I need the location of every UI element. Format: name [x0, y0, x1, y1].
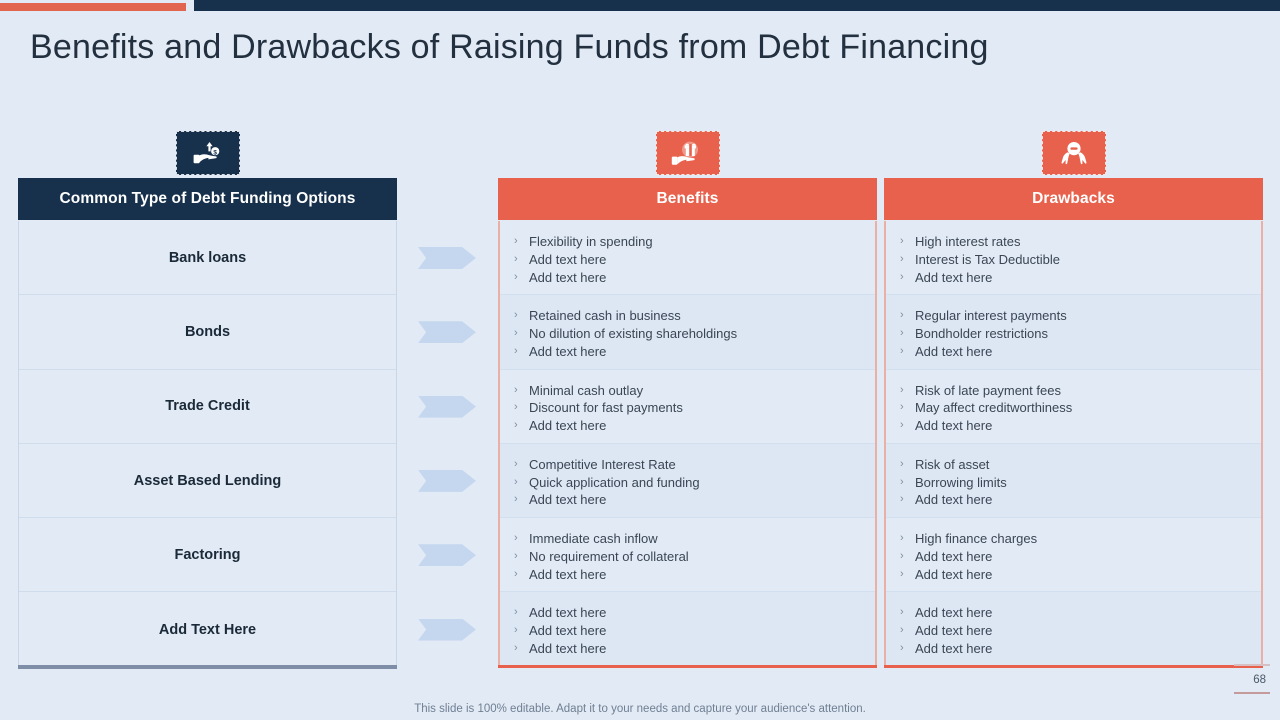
option-row: Trade Credit: [19, 370, 396, 444]
benefits-panel-bottom-rule: [498, 665, 877, 668]
drawback-bullet-text: Add text here: [915, 269, 992, 287]
page-number: 68: [1253, 674, 1266, 686]
drawback-bullet-text: High finance charges: [915, 530, 1037, 548]
row-connector-arrow-icon: [418, 544, 476, 566]
benefit-bullet: ›Add text here: [514, 343, 875, 361]
row-connector-arrow-icon: [418, 470, 476, 492]
bullet-chevron-icon: ›: [900, 622, 915, 640]
benefit-bullet: ›Add text here: [514, 269, 875, 287]
bullet-chevron-icon: ›: [514, 456, 529, 474]
drawback-bullet-text: Add text here: [915, 417, 992, 435]
bullet-chevron-icon: ›: [514, 530, 529, 548]
slide-canvas: Benefits and Drawbacks of Raising Funds …: [0, 0, 1280, 720]
top-accent-red-segment: [0, 3, 186, 11]
bullet-chevron-icon: ›: [900, 325, 915, 343]
bullet-chevron-icon: ›: [900, 343, 915, 361]
benefit-bullet: ›Competitive Interest Rate: [514, 456, 875, 474]
drawback-bullet-text: Borrowing limits: [915, 474, 1007, 492]
bullet-chevron-icon: ›: [514, 622, 529, 640]
bullet-chevron-icon: ›: [900, 233, 915, 251]
benefit-bullet-text: Flexibility in spending: [529, 233, 653, 251]
option-row: Factoring: [19, 518, 396, 592]
bullet-chevron-icon: ›: [900, 548, 915, 566]
drawback-bullet: ›Risk of late payment fees: [900, 382, 1261, 400]
drawback-bullet-text: Add text here: [915, 604, 992, 622]
option-label: Asset Based Lending: [134, 473, 281, 489]
drawback-bullet-text: May affect creditworthiness: [915, 399, 1072, 417]
drawback-bullet-text: Add text here: [915, 640, 992, 658]
option-label: Factoring: [174, 547, 240, 563]
drawback-bullet: ›Add text here: [900, 343, 1261, 361]
option-label: Trade Credit: [165, 398, 250, 414]
bullet-chevron-icon: ›: [900, 307, 915, 325]
svg-text:$: $: [213, 149, 217, 156]
options-column-header: Common Type of Debt Funding Options: [18, 178, 397, 220]
bullet-chevron-icon: ›: [514, 399, 529, 417]
drawback-bullet: ›Bondholder restrictions: [900, 325, 1261, 343]
options-icon-badge: $: [176, 131, 240, 175]
drawback-bullet: ›Add text here: [900, 622, 1261, 640]
drawback-bullet: ›Risk of asset: [900, 456, 1261, 474]
drawback-bullet: ›High interest rates: [900, 233, 1261, 251]
bullet-chevron-icon: ›: [514, 382, 529, 400]
bullet-chevron-icon: ›: [900, 566, 915, 584]
row-connector-arrow-icon: [418, 321, 476, 343]
bullet-chevron-icon: ›: [900, 474, 915, 492]
bullet-chevron-icon: ›: [900, 491, 915, 509]
benefit-bullet-text: Immediate cash inflow: [529, 530, 658, 548]
bullet-chevron-icon: ›: [900, 251, 915, 269]
bullet-chevron-icon: ›: [514, 491, 529, 509]
option-label: Bank loans: [169, 250, 246, 266]
bullet-chevron-icon: ›: [900, 269, 915, 287]
benefit-bullet-text: Add text here: [529, 640, 606, 658]
benefit-cell: ›Retained cash in business›No dilution o…: [500, 295, 875, 369]
drawbacks-panel: ›High interest rates›Interest is Tax Ded…: [884, 221, 1263, 667]
benefit-bullet: ›Add text here: [514, 566, 875, 584]
bullet-chevron-icon: ›: [900, 417, 915, 435]
editable-footnote: This slide is 100% editable. Adapt it to…: [0, 703, 1280, 715]
drawback-bullet-text: Bondholder restrictions: [915, 325, 1048, 343]
drawback-cell: ›Regular interest payments›Bondholder re…: [886, 295, 1261, 369]
bullet-chevron-icon: ›: [514, 566, 529, 584]
hand-holding-money-up-icon: $: [191, 139, 225, 167]
benefit-bullet-text: Add text here: [529, 251, 606, 269]
benefit-bullet: ›No dilution of existing shareholdings: [514, 325, 875, 343]
drawbacks-panel-bottom-rule: [884, 665, 1263, 668]
benefits-icon-badge: [656, 131, 720, 175]
drawback-bullet: ›Add text here: [900, 491, 1261, 509]
option-row: Add Text Here: [19, 592, 396, 666]
benefit-bullet: ›Quick application and funding: [514, 474, 875, 492]
benefit-bullet: ›Add text here: [514, 251, 875, 269]
drawback-bullet: ›Regular interest payments: [900, 307, 1261, 325]
benefit-bullet: ›Add text here: [514, 640, 875, 658]
bullet-chevron-icon: ›: [900, 382, 915, 400]
bullet-chevron-icon: ›: [514, 269, 529, 287]
benefits-column-header: Benefits: [498, 178, 877, 220]
benefit-bullet-text: Add text here: [529, 269, 606, 287]
benefit-bullet-text: Discount for fast payments: [529, 399, 683, 417]
benefit-bullet-text: No requirement of collateral: [529, 548, 689, 566]
options-table-underline: [18, 665, 397, 669]
page-number-bottom-rule: [1234, 692, 1270, 694]
drawback-bullet-text: Add text here: [915, 566, 992, 584]
option-row: Asset Based Lending: [19, 444, 396, 518]
bullet-chevron-icon: ›: [514, 233, 529, 251]
bullet-chevron-icon: ›: [514, 325, 529, 343]
drawback-cell: ›High finance charges›Add text here›Add …: [886, 518, 1261, 592]
drawback-bullet: ›Add text here: [900, 417, 1261, 435]
benefit-cell: ›Flexibility in spending›Add text here›A…: [500, 221, 875, 295]
drawback-bullet: ›Interest is Tax Deductible: [900, 251, 1261, 269]
drawback-bullet-text: Add text here: [915, 548, 992, 566]
drawback-cell: ›Add text here›Add text here›Add text he…: [886, 592, 1261, 666]
drawback-cell: ›Risk of asset›Borrowing limits›Add text…: [886, 444, 1261, 518]
bullet-chevron-icon: ›: [514, 307, 529, 325]
benefit-bullet: ›Add text here: [514, 491, 875, 509]
benefit-cell: ›Minimal cash outlay›Discount for fast p…: [500, 370, 875, 444]
benefit-bullet-text: Add text here: [529, 491, 606, 509]
drawback-bullet-text: Add text here: [915, 491, 992, 509]
benefit-bullet-text: Add text here: [529, 604, 606, 622]
benefit-bullet-text: Add text here: [529, 343, 606, 361]
drawback-bullet-text: High interest rates: [915, 233, 1021, 251]
top-accent-bar: [0, 0, 1280, 11]
drawbacks-icon-badge: [1042, 131, 1106, 175]
drawback-cell: ›Risk of late payment fees›May affect cr…: [886, 370, 1261, 444]
bullet-chevron-icon: ›: [514, 604, 529, 622]
benefit-bullet-text: Add text here: [529, 417, 606, 435]
benefit-bullet-text: Quick application and funding: [529, 474, 700, 492]
benefit-bullet: ›Add text here: [514, 417, 875, 435]
benefit-bullet: ›Immediate cash inflow: [514, 530, 875, 548]
drawback-bullet: ›May affect creditworthiness: [900, 399, 1261, 417]
row-connector-arrow-icon: [418, 619, 476, 641]
page-title: Benefits and Drawbacks of Raising Funds …: [30, 28, 989, 67]
benefit-bullet-text: Minimal cash outlay: [529, 382, 643, 400]
drawback-bullet: ›Add text here: [900, 640, 1261, 658]
drawbacks-column-header: Drawbacks: [884, 178, 1263, 220]
bullet-chevron-icon: ›: [900, 399, 915, 417]
drawback-bullet-text: Regular interest payments: [915, 307, 1067, 325]
hands-holding-minus-icon: [1057, 139, 1091, 167]
benefit-bullet-text: No dilution of existing shareholdings: [529, 325, 737, 343]
benefit-cell: ›Immediate cash inflow›No requirement of…: [500, 518, 875, 592]
benefit-cell: ›Competitive Interest Rate›Quick applica…: [500, 444, 875, 518]
page-number-top-rule: [1234, 664, 1270, 666]
row-connector-arrow-icon: [418, 247, 476, 269]
option-label: Bonds: [185, 324, 230, 340]
option-row: Bonds: [19, 295, 396, 369]
drawback-cell: ›High interest rates›Interest is Tax Ded…: [886, 221, 1261, 295]
bullet-chevron-icon: ›: [514, 548, 529, 566]
benefit-bullet: ›Minimal cash outlay: [514, 382, 875, 400]
drawback-bullet: ›Add text here: [900, 548, 1261, 566]
benefit-bullet: ›Add text here: [514, 604, 875, 622]
bullet-chevron-icon: ›: [514, 251, 529, 269]
drawback-bullet: ›Add text here: [900, 269, 1261, 287]
bullet-chevron-icon: ›: [900, 530, 915, 548]
bullet-chevron-icon: ›: [900, 604, 915, 622]
bullet-chevron-icon: ›: [514, 474, 529, 492]
hand-holding-gift-icon: [671, 139, 705, 167]
bullet-chevron-icon: ›: [900, 456, 915, 474]
drawback-bullet: ›Borrowing limits: [900, 474, 1261, 492]
benefits-panel: ›Flexibility in spending›Add text here›A…: [498, 221, 877, 667]
option-row: Bank loans: [19, 221, 396, 295]
drawback-bullet: ›Add text here: [900, 604, 1261, 622]
benefit-bullet-text: Competitive Interest Rate: [529, 456, 676, 474]
benefit-bullet: ›No requirement of collateral: [514, 548, 875, 566]
drawback-bullet-text: Add text here: [915, 343, 992, 361]
benefit-bullet: ›Discount for fast payments: [514, 399, 875, 417]
benefit-bullet: ›Flexibility in spending: [514, 233, 875, 251]
option-label: Add Text Here: [159, 622, 256, 638]
drawback-bullet-text: Add text here: [915, 622, 992, 640]
benefit-bullet: ›Add text here: [514, 622, 875, 640]
top-accent-navy-segment: [194, 0, 1280, 11]
options-table: Bank loansBondsTrade CreditAsset Based L…: [18, 221, 397, 667]
bullet-chevron-icon: ›: [514, 417, 529, 435]
bullet-chevron-icon: ›: [514, 343, 529, 361]
benefit-bullet-text: Add text here: [529, 566, 606, 584]
bullet-chevron-icon: ›: [514, 640, 529, 658]
benefit-bullet-text: Add text here: [529, 622, 606, 640]
bullet-chevron-icon: ›: [900, 640, 915, 658]
drawback-bullet: ›Add text here: [900, 566, 1261, 584]
drawback-bullet-text: Interest is Tax Deductible: [915, 251, 1060, 269]
drawback-bullet: ›High finance charges: [900, 530, 1261, 548]
benefit-bullet-text: Retained cash in business: [529, 307, 681, 325]
row-connector-arrow-icon: [418, 396, 476, 418]
benefit-cell: ›Add text here›Add text here›Add text he…: [500, 592, 875, 666]
drawback-bullet-text: Risk of late payment fees: [915, 382, 1061, 400]
benefit-bullet: ›Retained cash in business: [514, 307, 875, 325]
drawback-bullet-text: Risk of asset: [915, 456, 989, 474]
